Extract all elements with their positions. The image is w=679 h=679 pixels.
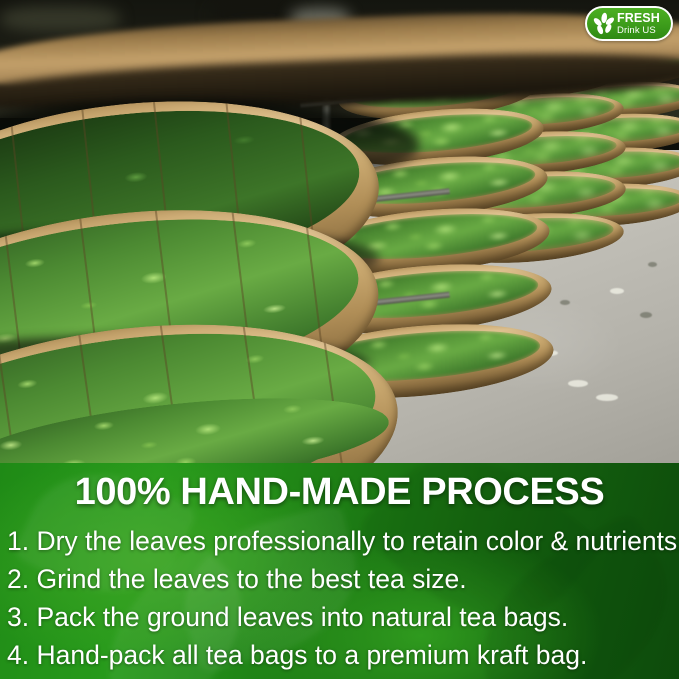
- leaf-cluster-icon: [590, 11, 616, 37]
- floor-debris: [560, 300, 570, 305]
- logo-brand-tagline: Drink US: [617, 26, 660, 36]
- tea-drying-photo: [0, 0, 679, 463]
- floor-debris: [648, 262, 657, 267]
- process-steps-list: 1. Dry the leaves professionally to reta…: [7, 522, 679, 674]
- floor-debris: [610, 288, 624, 294]
- process-step-3: 3. Pack the ground leaves into natural t…: [7, 598, 679, 636]
- process-step-2: 2. Grind the leaves to the best tea size…: [7, 560, 679, 598]
- product-infographic: 100% HAND-MADE PROCESS 1. Dry the leaves…: [0, 0, 679, 679]
- logo-brand-name: FRESH: [617, 12, 660, 25]
- process-step-4: 4. Hand-pack all tea bags to a premium k…: [7, 636, 679, 674]
- brand-logo-badge: FRESH Drink US: [585, 6, 673, 41]
- floor-debris: [640, 312, 652, 318]
- floor-debris: [568, 380, 588, 387]
- ceiling-blur: [0, 6, 120, 32]
- page-title: 100% HAND-MADE PROCESS: [0, 471, 679, 514]
- process-step-1: 1. Dry the leaves professionally to reta…: [7, 522, 679, 560]
- floor-debris: [596, 394, 618, 401]
